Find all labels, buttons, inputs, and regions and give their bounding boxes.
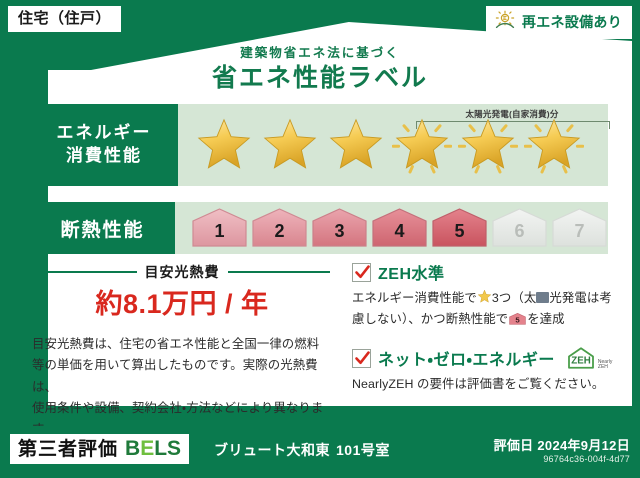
evaluation-id: 96764c36-004f-4d77 <box>543 454 630 464</box>
star-filled-solar <box>522 113 586 177</box>
insulation-level-label: 7 <box>574 221 584 248</box>
bels-logo: BELS <box>125 438 181 459</box>
third-party-label: 第三者評価 <box>18 440 118 459</box>
zeh-desc-part1: エネルギー消費性能で <box>352 291 477 305</box>
utility-cost-heading-text: 目安光熱費 <box>145 262 220 282</box>
zeh-logo: ZEH Nearly ZEH <box>566 346 612 370</box>
insulation-level-scale: 1 2 3 4 5 <box>175 208 608 248</box>
footer-bar: 第三者評価 BELS ブリュート大和東 101号室 評価日 2024年9月12日… <box>0 426 640 478</box>
star-filled-solar <box>390 113 454 177</box>
section-divider <box>336 268 337 398</box>
label-title: 省エネ性能ラベル <box>0 58 640 94</box>
zeh-logo-sub2: ZEH <box>598 365 612 370</box>
insulation-level-label: 2 <box>274 221 284 248</box>
net-zero-energy-title: ネット・ゼロ・エネルギー <box>378 346 555 370</box>
renewable-equipment-badge: 再エネ設備あり <box>486 6 632 39</box>
insulation-level-7: 7 <box>551 208 608 248</box>
property-name: ブリュート大和東 <box>214 440 330 460</box>
insulation-level-label: 4 <box>394 221 404 248</box>
renewable-badge-label: 再エネ設備あり <box>522 15 622 29</box>
insulation-level-4: 4 <box>371 208 428 248</box>
energy-performance-label: 住宅（住戸） 再エネ設備あり 建築物省エネ法に基づく 省エネ性能ラベル エネルギ… <box>0 0 640 478</box>
bels-certification-tag: 第三者評価 BELS <box>10 434 189 464</box>
unit-number: 101号室 <box>336 440 390 460</box>
insulation-level-3: 3 <box>311 208 368 248</box>
zeh-desc-part3: 光発電 <box>549 291 586 305</box>
insulation-scale-area: 1 2 3 4 5 <box>175 202 608 254</box>
energy-performance-row: エネルギー 消費性能 太陽光発電(自家消費)分 <box>30 104 608 186</box>
heading-rule-left <box>34 271 137 273</box>
insulation-level-6: 6 <box>491 208 548 248</box>
redaction-block <box>536 292 549 303</box>
energy-stars-area: 太陽光発電(自家消費)分 <box>178 104 608 186</box>
inline-insulation-badge: 5 <box>509 312 526 332</box>
insulation-label-text: 断熱性能 <box>60 215 144 242</box>
insulation-label-block: 断熱性能 <box>30 202 175 254</box>
star-filled <box>258 113 322 177</box>
svg-text:5: 5 <box>516 316 521 325</box>
star-filled-solar <box>456 113 520 177</box>
utility-cost-heading: 目安光熱費 <box>34 262 330 282</box>
checkbox-checked <box>352 349 371 368</box>
utility-cost-note-line1: 目安光熱費は、住宅の省エネ性能と全国一律の燃料 <box>32 334 332 355</box>
net-zero-energy-item: ネット・ゼロ・エネルギー ZEH Nearly ZEH NearlyZEH の要… <box>352 346 620 394</box>
zeh-desc-part2: 3つ（太 <box>492 291 536 305</box>
star-filled <box>324 113 388 177</box>
energy-label-line2: 消費性能 <box>66 145 142 168</box>
zeh-desc-part5: を達成 <box>527 312 564 326</box>
zeh-criteria-block: ZEH水準 エネルギー消費性能で3つ（太光発電は考慮しない）、かつ断熱性能で5を… <box>352 260 620 409</box>
insulation-level-label: 6 <box>514 221 524 248</box>
insulation-level-label: 3 <box>334 221 344 248</box>
utility-cost-value: 約8.1万円 / 年 <box>34 282 330 321</box>
zeh-standard-description: エネルギー消費性能で3つ（太光発電は考慮しない）、かつ断熱性能で5を達成 <box>352 289 620 332</box>
utility-cost-note-line2: 等の単価を用いて算出したものです。実際の光熱費は、 <box>32 355 332 398</box>
utility-cost-note: 目安光熱費は、住宅の省エネ性能と全国一律の燃料 等の単価を用いて算出したものです… <box>32 334 332 441</box>
bels-logo-e: E <box>140 437 154 460</box>
insulation-performance-row: 断熱性能 1 2 <box>30 202 608 254</box>
bels-logo-ls: LS <box>154 437 181 460</box>
energy-label-line1: エネルギー <box>57 122 152 145</box>
insulation-level-1: 1 <box>191 208 248 248</box>
heading-rule-right <box>228 271 331 273</box>
checkbox-checked <box>352 263 371 282</box>
inline-star-icon <box>477 289 492 310</box>
zeh-standard-item: ZEH水準 エネルギー消費性能で3つ（太光発電は考慮しない）、かつ断熱性能で5を… <box>352 260 620 332</box>
category-tag: 住宅（住戸） <box>8 6 121 32</box>
star-filled <box>192 113 256 177</box>
bels-logo-b: B <box>125 437 140 460</box>
evaluation-date: 評価日 2024年9月12日 <box>494 435 630 454</box>
zeh-standard-heading: ZEH水準 <box>352 260 620 284</box>
net-zero-energy-heading: ネット・ゼロ・エネルギー ZEH Nearly ZEH <box>352 346 620 370</box>
insulation-level-label: 5 <box>454 221 464 248</box>
svg-text:ZEH: ZEH <box>571 356 591 367</box>
insulation-level-2: 2 <box>251 208 308 248</box>
insulation-level-label: 1 <box>214 221 224 248</box>
star-rating <box>178 113 586 177</box>
zeh-standard-title: ZEH水準 <box>378 260 445 284</box>
sun-icon <box>494 10 516 34</box>
insulation-level-5: 5 <box>431 208 488 248</box>
energy-performance-label-block: エネルギー 消費性能 <box>30 104 178 186</box>
net-zero-energy-description: NearlyZEH の要件は評価書をご覧ください。 <box>352 375 620 394</box>
